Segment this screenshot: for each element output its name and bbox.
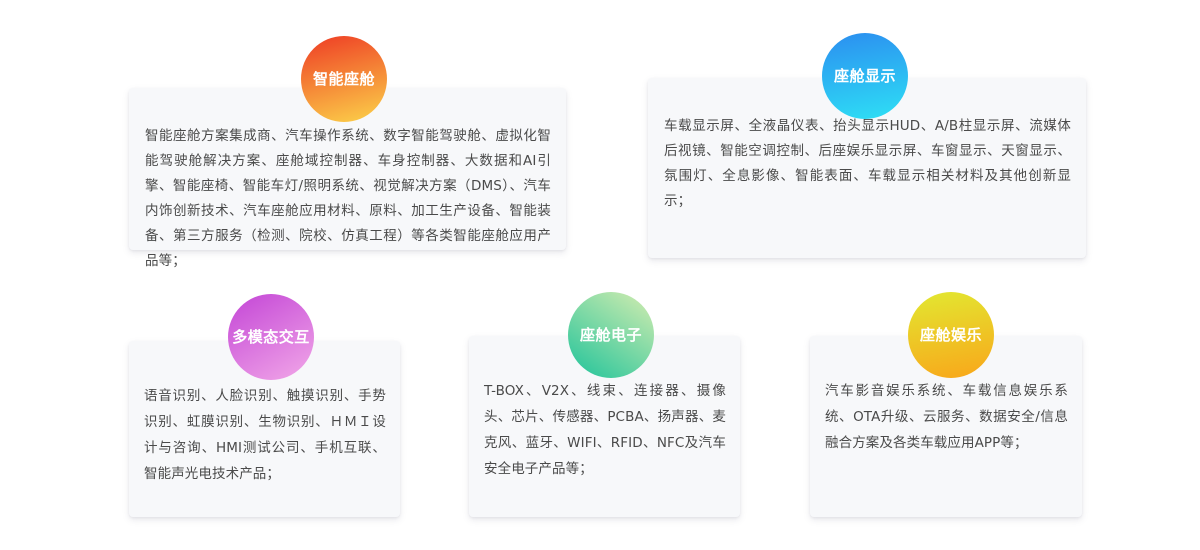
badge-cockpit-entertain-label: 座舱娱乐 bbox=[920, 328, 982, 343]
card-cockpit-display-body: 车载显示屏、全液晶仪表、抬头显示HUD、A/B柱显示屏、流媒体后视镜、智能空调控… bbox=[648, 114, 1086, 214]
badge-cockpit-display[interactable]: 座舱显示 bbox=[822, 33, 908, 119]
card-cockpit-entertain-body: 汽车影音娱乐系统、车载信息娱乐系统、OTA升级、云服务、数据安全/信息融合方案及… bbox=[810, 378, 1082, 456]
badge-cockpit-electronics[interactable]: 座舱电子 bbox=[568, 292, 654, 378]
card-multimodal-body: 语音识别、人脸识别、触摸识别、手势识别、虹膜识别、生物识别、ＨＭＩ设计与咨询、H… bbox=[129, 383, 400, 487]
badge-cockpit-electronics-label: 座舱电子 bbox=[580, 328, 642, 343]
card-cockpit-electronics-body: T-BOX、V2X、线束、连接器、摄像头、芯片、传感器、PCBA、扬声器、麦克风… bbox=[469, 378, 740, 482]
category-card-board: 智能座舱方案集成商、汽车操作系统、数字智能驾驶舱、虚拟化智能驾驶舱解决方案、座舱… bbox=[0, 0, 1200, 550]
badge-cockpit-display-label: 座舱显示 bbox=[834, 69, 896, 84]
badge-multimodal[interactable]: 多模态交互 bbox=[228, 294, 314, 380]
badge-smart-cockpit-label: 智能座舱 bbox=[313, 72, 375, 87]
badge-multimodal-label: 多模态交互 bbox=[232, 330, 310, 345]
card-smart-cockpit-body: 智能座舱方案集成商、汽车操作系统、数字智能驾驶舱、虚拟化智能驾驶舱解决方案、座舱… bbox=[129, 124, 566, 274]
badge-cockpit-entertain[interactable]: 座舱娱乐 bbox=[908, 292, 994, 378]
badge-smart-cockpit[interactable]: 智能座舱 bbox=[301, 36, 387, 122]
